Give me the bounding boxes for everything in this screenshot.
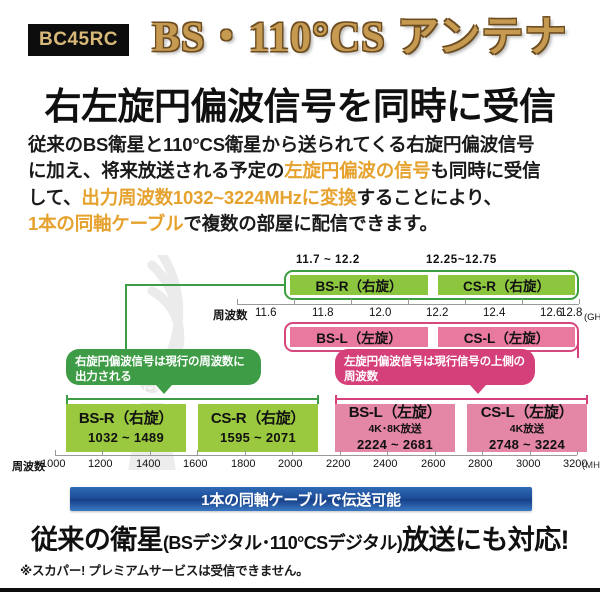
green-output-span-rail — [66, 398, 319, 400]
bottom-axis: 周波数 1000 1200 1400 1600 1800 2000 2200 2… — [0, 455, 600, 473]
lead-highlight-left-polarization: 左旋円偏波の信号 — [284, 160, 430, 181]
bottom-axis-tick — [435, 450, 436, 455]
lead-paragraph: 従来のBS衛星と110°CS衛星から送られてくる右旋円偏波信号 に加え、将来放送… — [28, 132, 580, 237]
header: BC45RC BS・110°CS アンテナ — [0, 18, 600, 64]
single-cable-banner: 1本の同軸ケーブルで伝送可能 — [70, 487, 532, 511]
pink-span-cap-right — [586, 395, 588, 404]
green-connector-vertical — [125, 284, 127, 350]
bottom-rule — [0, 588, 600, 592]
output-box-cs-l: CS-L（左旋） 4K放送 2748 ~ 3224 — [467, 404, 587, 452]
bottom-axis-tick — [55, 450, 56, 455]
band-cs-r: CS-R（右旋） — [438, 275, 575, 295]
bottom-axis-unit: (MHz) — [582, 460, 600, 471]
bottom-axis-tick-label: 1200 — [88, 458, 112, 470]
green-callout-arrow-icon — [156, 385, 172, 394]
bottom-axis-tick-label: 2400 — [373, 458, 397, 470]
bottom-axis-tick — [292, 450, 293, 455]
callout-right-polarization: 右旋円偏波信号は現行の周波数に出力される （従来どおりに変換できる） — [66, 349, 261, 385]
pink-output-span-rail — [335, 398, 588, 400]
bottom-axis-tick-label: 3000 — [516, 458, 540, 470]
infographic-page: BC45RC BS・110°CS アンテナ 右左旋円偏波信号を同時に受信 従来の… — [0, 0, 600, 600]
bottom-axis-tick — [530, 450, 531, 455]
top-axis-tick-label: 11.6 — [255, 307, 277, 319]
band-bs-r: BS-R（右旋） — [290, 275, 428, 295]
top-axis-tick — [294, 299, 295, 304]
top-axis-tick — [522, 299, 523, 304]
bottom-axis-tick — [340, 450, 341, 455]
top-axis-tick-label: 12.4 — [483, 307, 505, 319]
bottom-axis-tick-label: 2200 — [326, 458, 350, 470]
output-box-cs-r: CS-R（右旋） 1595 ~ 2071 — [198, 404, 318, 452]
green-span-cap-right — [317, 395, 319, 404]
top-axis-tick-label: 11.8 — [312, 307, 334, 319]
range-label-bs-r: 11.7 ~ 12.2 — [296, 254, 360, 266]
top-axis-unit: (GHz) — [584, 312, 600, 323]
bottom-axis-tick-label: 1400 — [136, 458, 160, 470]
top-axis-tick — [237, 299, 238, 304]
band-bs-l: BS-L（左旋） — [290, 327, 428, 347]
band-cs-l: CS-L（左旋） — [438, 327, 575, 347]
bottom-axis-tick-label: 2600 — [421, 458, 445, 470]
output-box-bs-r: BS-R（右旋） 1032 ~ 1489 — [66, 404, 186, 452]
green-connector-horizontal — [125, 284, 285, 286]
top-axis-tick — [465, 299, 466, 304]
top-axis-tick-label: 12.0 — [369, 307, 391, 319]
bottom-axis-tick — [150, 450, 151, 455]
lead-line-4: 1本の同軸ケーブルで複数の部屋に配信できます。 — [28, 211, 580, 237]
bottom-axis-tick — [245, 450, 246, 455]
top-axis-line — [237, 304, 579, 305]
top-axis-name: 周波数 — [213, 307, 248, 323]
callout-left-polarization: 左旋円偏波信号は現行信号の上側の周波数 に出力される — [335, 349, 535, 385]
green-span-cap-left — [66, 395, 68, 404]
headline: 右左旋円偏波信号を同時に受信 — [0, 76, 600, 130]
bottom-axis-line — [55, 455, 577, 456]
bottom-axis-tick-label: 2000 — [278, 458, 302, 470]
range-label-cs-r: 12.25~12.75 — [426, 254, 497, 266]
lead-highlight-output-frequency: 出力周波数1032~3224MHzに変換 — [81, 187, 356, 208]
lead-line-1: 従来のBS衛星と110°CS衛星から送られてくる右旋円偏波信号 — [28, 132, 580, 158]
bottom-axis-tick-label: 1600 — [183, 458, 207, 470]
lead-highlight-single-cable: 1本の同軸ケーブル — [28, 213, 183, 234]
top-axis-tick-label: 12.8 — [560, 307, 582, 319]
bottom-axis-tick — [197, 450, 198, 455]
top-axis-tick — [351, 299, 352, 304]
bottom-axis-tick-label: 1000 — [41, 458, 65, 470]
frequency-conversion-diagram: 11.7 ~ 12.2 12.25~12.75 BS-R（右旋） CS-R（右旋… — [0, 252, 600, 484]
top-axis-tick — [579, 299, 580, 304]
output-box-bs-l: BS-L（左旋） 4K･8K放送 2224 ~ 2681 — [335, 404, 455, 452]
bottom-axis-tick — [482, 450, 483, 455]
input-band-row-right-polarization: BS-R（右旋） CS-R（右旋） — [284, 270, 579, 300]
input-band-row-left-polarization: BS-L（左旋） CS-L（左旋） — [284, 322, 579, 352]
pink-callout-arrow-icon — [470, 385, 486, 394]
bottom-axis-tick — [577, 450, 578, 455]
lead-line-2: に加え、将来放送される予定の左旋円偏波の信号も同時に受信 — [28, 158, 580, 184]
pink-span-cap-left — [335, 395, 337, 404]
bottom-axis-tick-label: 1800 — [231, 458, 255, 470]
lead-line-3: して、出力周波数1032~3224MHzに変換することにより、 — [28, 185, 580, 211]
bottom-axis-tick — [387, 450, 388, 455]
page-title: BS・110°CS アンテナ — [152, 14, 567, 62]
footer-note: ※スカパー! プレミアムサービスは受信できません。 — [20, 560, 309, 579]
bottom-axis-tick — [102, 450, 103, 455]
bottom-axis-tick-label: 2800 — [468, 458, 492, 470]
pink-connector-vertical — [577, 336, 579, 358]
top-axis-tick — [408, 299, 409, 304]
footer-main-text: 従来の衛星(BSデジタル･110°CSデジタル)放送にも対応! — [0, 518, 600, 557]
model-badge: BC45RC — [28, 24, 129, 56]
top-axis-labels: 周波数 11.6 11.8 12.0 12.2 12.4 12.6 12.8 (… — [0, 307, 600, 323]
top-axis-tick-label: 12.2 — [426, 307, 448, 319]
